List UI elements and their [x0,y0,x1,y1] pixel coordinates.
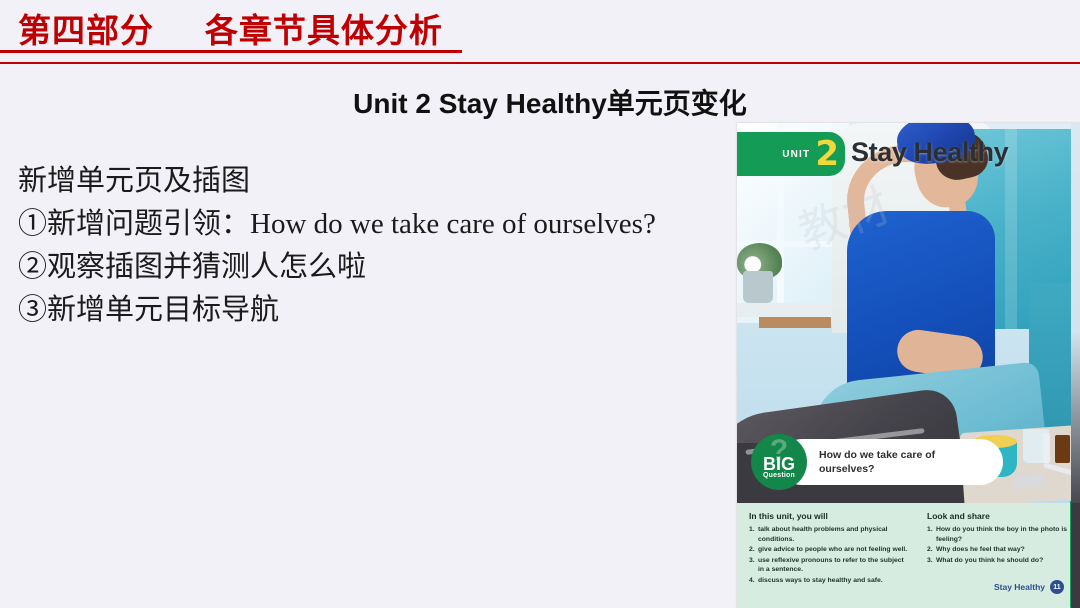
body-line-1: 新增单元页及插图 [18,160,733,203]
list-item: 2. give advice to people who are not fee… [749,545,909,555]
header-underline-short [0,50,462,53]
textbook-page-footer: Stay Healthy 11 [994,580,1064,594]
list-item-number: 3. [749,556,758,575]
list-item-text: How do you think the boy in the photo is… [936,525,1074,544]
list-item-number: 4. [749,576,758,586]
page-title: Unit 2 Stay Healthy单元页变化 [0,82,1080,122]
list-item-number: 2. [749,545,758,555]
list-item: 1. How do you think the boy in the photo… [927,525,1074,544]
list-item-number: 1. [749,525,758,544]
unit-number: 2 [815,138,839,170]
list-item-text: talk about health problems and physical … [758,525,909,544]
big-question-sub-label: Question [763,472,795,479]
textbook-cover-title: Stay Healthy [851,137,1008,168]
medicine-bottle-shape [1055,435,1070,463]
list-item-text: give advice to people who are not feelin… [758,545,907,555]
list-item: 2. Why does he feel that way? [927,545,1074,555]
big-question-badge: ? BIG Question How do we take care of ou… [751,435,979,489]
wood-trim-shape [759,317,831,328]
list-item-number: 2. [927,545,936,555]
big-question-text: How do we take care of ourselves? [819,448,979,476]
list-item-text: discuss ways to stay healthy and safe. [758,576,883,586]
plant-pot-shape [743,271,773,303]
big-question-big-label: BIG [763,456,795,472]
look-and-share-panel: Look and share 1. How do you think the b… [917,503,1080,608]
unit-label: UNIT [782,149,810,160]
footer-unit-label: Stay Healthy [994,582,1045,592]
textbook-page-image: 教材 UNIT 2 Stay Healthy ? BIG Question Ho… [737,123,1080,608]
book-spine-edge-top [1071,123,1080,503]
in-this-unit-title: In this unit, you will [749,511,909,521]
slide-body-text: 新增单元页及插图 ①新增问题引领：How do we take care of … [18,160,733,332]
look-and-share-title: Look and share [927,511,1074,521]
list-item-text: What do you think he should do? [936,556,1043,566]
header-underline-full [0,62,1080,64]
list-item: 3. What do you think he should do? [927,556,1074,566]
list-item-text: Why does he feel that way? [936,545,1025,555]
body-line-3: ②观察插图并猜测人怎么啦 [18,246,733,289]
footer-page-number: 11 [1050,580,1064,594]
list-item: 3. use reflexive pronouns to refer to th… [749,556,909,575]
big-question-circle: ? BIG Question [751,434,807,490]
list-item-text: use reflexive pronouns to refer to the s… [758,556,909,575]
unit-banner: UNIT 2 [737,132,845,176]
list-item: 4. discuss ways to stay healthy and safe… [749,576,909,586]
look-and-share-list: 1. How do you think the boy in the photo… [927,525,1074,565]
nasal-spray-shape [1043,433,1050,463]
window-sill-shape [737,303,833,317]
list-item-number: 1. [927,525,936,544]
body-line-4: ③新增单元目标导航 [18,289,733,332]
list-item-number: 3. [927,556,936,566]
in-this-unit-list: 1. talk about health problems and physic… [749,525,909,586]
body-line-2: ①新增问题引领：How do we take care of ourselves… [18,203,733,246]
slide-header: 第四部分 各章节具体分析 [0,0,1080,66]
section-header-title: 第四部分 各章节具体分析 [18,4,443,52]
in-this-unit-panel: In this unit, you will 1. talk about hea… [737,503,917,608]
list-item: 1. talk about health problems and physic… [749,525,909,544]
textbook-photo: 教材 UNIT 2 Stay Healthy ? BIG Question Ho… [737,123,1080,503]
textbook-bottom-panel: In this unit, you will 1. talk about hea… [737,503,1080,608]
